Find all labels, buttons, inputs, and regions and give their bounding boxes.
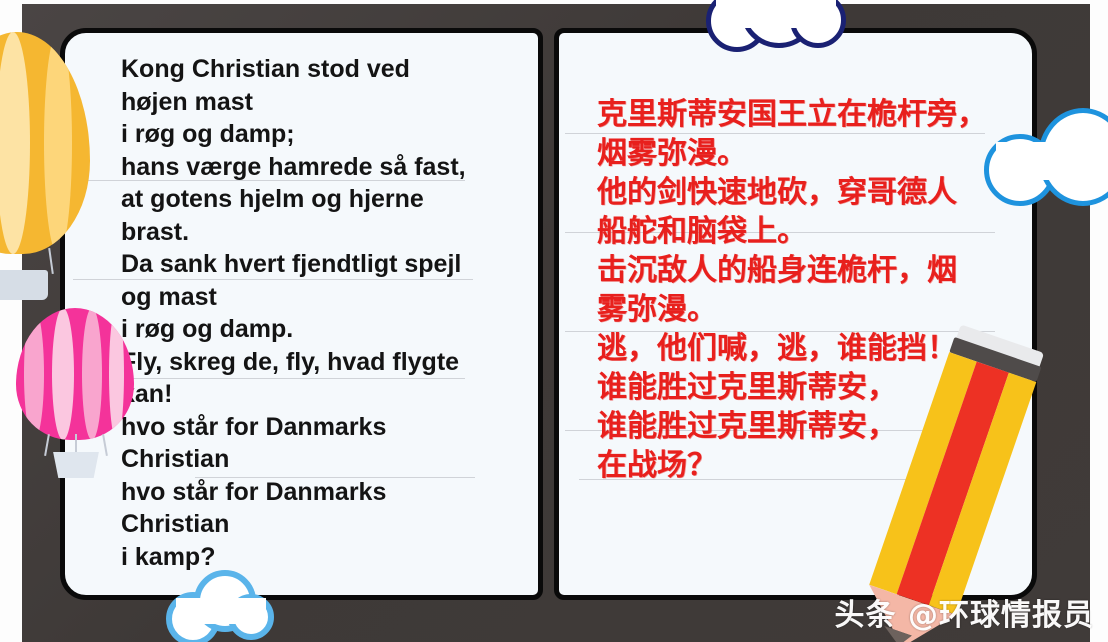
hot-air-balloon-pink-icon: [16, 308, 134, 482]
cloud-icon-right: [984, 108, 1108, 212]
watermark-text: 头条 @环球情报员: [835, 590, 1094, 634]
balloon-basket-pink: [50, 452, 102, 478]
cloud-icon-top: [706, 0, 846, 54]
cloud-icon-bottom: [166, 570, 274, 642]
balloon-basket-yellow: [0, 270, 48, 300]
screenshot-canvas: Kong Christian stod ved højen mast i røg…: [0, 0, 1108, 642]
danish-lyrics: Kong Christian stod ved højen mast i røg…: [121, 53, 466, 573]
hot-air-balloon-yellow-icon: [0, 32, 90, 300]
